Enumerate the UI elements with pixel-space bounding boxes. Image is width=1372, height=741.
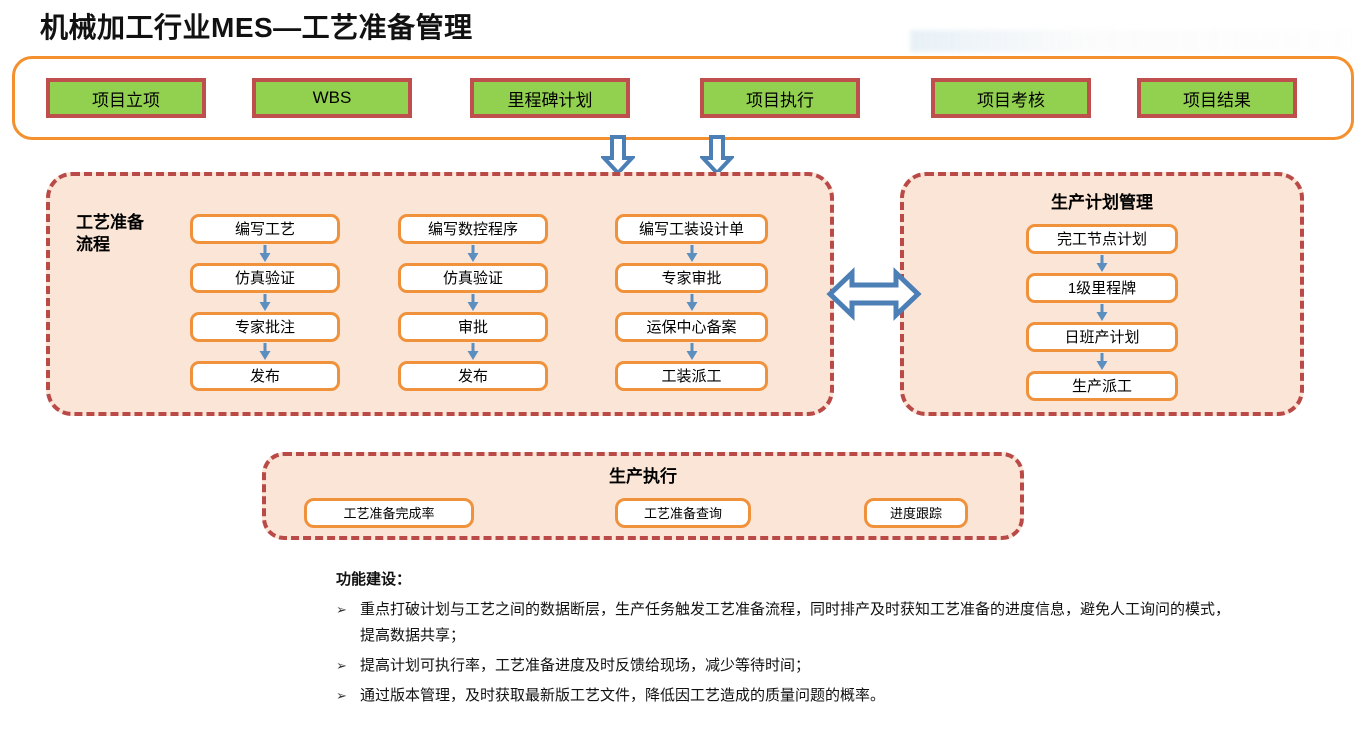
- process-arrow-3-3: [685, 343, 699, 360]
- phase-button-label: 里程碑计划: [508, 86, 593, 111]
- plan-step-label: 日班产计划: [1064, 329, 1139, 346]
- phase-button-label: 项目立项: [92, 86, 160, 111]
- phase-button-label: 项目结果: [1183, 86, 1251, 111]
- process-panel-label-line-2: 流程: [76, 234, 186, 256]
- process-step-label: 编写数控程序: [428, 221, 518, 238]
- execution-item-label: 进度跟踪: [890, 505, 942, 522]
- process-step-2-3[interactable]: 审批: [398, 312, 548, 342]
- process-arrow-1-3: [258, 343, 272, 360]
- bidirectional-link-arrow-icon: [826, 266, 922, 322]
- feature-item-text: 通过版本管理，及时获取最新版工艺文件，降低因工艺造成的质量问题的概率。: [360, 683, 1236, 709]
- process-step-label: 专家批注: [235, 319, 295, 336]
- process-step-2-4[interactable]: 发布: [398, 361, 548, 391]
- process-step-3-2[interactable]: 专家审批: [615, 263, 768, 293]
- feature-item-2: ➢提高计划可执行率，工艺准备进度及时反馈给现场，减少等待时间；: [336, 653, 1236, 679]
- plan-step-label: 完工节点计划: [1057, 231, 1147, 248]
- phase-button-label: WBS: [313, 88, 352, 108]
- phase-button-1[interactable]: 项目立项: [46, 78, 206, 118]
- plan-step-label: 生产派工: [1072, 378, 1132, 395]
- phase-button-3[interactable]: 里程碑计划: [470, 78, 630, 118]
- execution-item-label: 工艺准备完成率: [343, 505, 434, 522]
- down-arrow-icon-1: [601, 134, 635, 176]
- plan-arrow-1: [1095, 255, 1109, 272]
- process-step-2-2[interactable]: 仿真验证: [398, 263, 548, 293]
- process-step-label: 仿真验证: [443, 270, 503, 287]
- exec-panel-heading: 生产执行: [262, 462, 1024, 487]
- feature-item-1: ➢重点打破计划与工艺之间的数据断层，生产任务触发工艺准备流程，同时排产及时获知工…: [336, 597, 1236, 649]
- phase-button-label: 项目执行: [746, 86, 814, 111]
- execution-item-2[interactable]: 工艺准备查询: [615, 498, 751, 528]
- execution-item-1[interactable]: 工艺准备完成率: [304, 498, 474, 528]
- plan-arrow-2: [1095, 304, 1109, 321]
- down-arrow-icon-2: [700, 134, 734, 176]
- plan-step-2[interactable]: 1级里程牌: [1026, 273, 1178, 303]
- process-step-label: 发布: [458, 368, 488, 385]
- process-step-2-1[interactable]: 编写数控程序: [398, 214, 548, 244]
- features-title: 功能建设：: [336, 568, 1236, 589]
- process-arrow-2-1: [466, 245, 480, 262]
- plan-step-4[interactable]: 生产派工: [1026, 371, 1178, 401]
- plan-step-3[interactable]: 日班产计划: [1026, 322, 1178, 352]
- process-step-3-1[interactable]: 编写工装设计单: [615, 214, 768, 244]
- arrow-bullet-icon: ➢: [336, 653, 360, 679]
- process-arrow-3-2: [685, 294, 699, 311]
- plan-panel-heading: 生产计划管理: [900, 188, 1304, 213]
- process-arrow-3-1: [685, 245, 699, 262]
- process-step-label: 专家审批: [661, 270, 721, 287]
- execution-item-3[interactable]: 进度跟踪: [864, 498, 968, 528]
- process-step-3-3[interactable]: 运保中心备案: [615, 312, 768, 342]
- process-step-label: 运保中心备案: [646, 319, 736, 336]
- process-step-1-1[interactable]: 编写工艺: [190, 214, 340, 244]
- process-step-1-2[interactable]: 仿真验证: [190, 263, 340, 293]
- feature-item-text: 重点打破计划与工艺之间的数据断层，生产任务触发工艺准备流程，同时排产及时获知工艺…: [360, 597, 1236, 649]
- arrow-bullet-icon: ➢: [336, 683, 360, 709]
- feature-construction-block: 功能建设： ➢重点打破计划与工艺之间的数据断层，生产任务触发工艺准备流程，同时排…: [336, 568, 1236, 713]
- background-watermark: [910, 30, 1350, 52]
- features-list: ➢重点打破计划与工艺之间的数据断层，生产任务触发工艺准备流程，同时排产及时获知工…: [336, 597, 1236, 709]
- process-step-3-4[interactable]: 工装派工: [615, 361, 768, 391]
- phase-button-4[interactable]: 项目执行: [700, 78, 860, 118]
- phase-button-5[interactable]: 项目考核: [931, 78, 1091, 118]
- process-step-label: 发布: [250, 368, 280, 385]
- plan-step-label: 1级里程牌: [1068, 280, 1136, 297]
- phase-button-label: 项目考核: [977, 86, 1045, 111]
- process-panel-label: 工艺准备流程: [76, 212, 186, 256]
- plan-step-1[interactable]: 完工节点计划: [1026, 224, 1178, 254]
- process-step-label: 审批: [458, 319, 488, 336]
- process-panel-label-line-1: 工艺准备: [76, 212, 186, 234]
- process-arrow-1-1: [258, 245, 272, 262]
- arrow-bullet-icon: ➢: [336, 597, 360, 623]
- process-step-1-4[interactable]: 发布: [190, 361, 340, 391]
- execution-item-label: 工艺准备查询: [644, 505, 722, 522]
- process-step-label: 工装派工: [661, 368, 721, 385]
- feature-item-text: 提高计划可执行率，工艺准备进度及时反馈给现场，减少等待时间；: [360, 653, 1236, 679]
- process-step-label: 编写工艺: [235, 221, 295, 238]
- process-arrow-2-2: [466, 294, 480, 311]
- process-arrow-1-2: [258, 294, 272, 311]
- phase-button-6[interactable]: 项目结果: [1137, 78, 1297, 118]
- process-arrow-2-3: [466, 343, 480, 360]
- process-step-1-3[interactable]: 专家批注: [190, 312, 340, 342]
- process-step-label: 仿真验证: [235, 270, 295, 287]
- process-step-label: 编写工装设计单: [639, 221, 744, 238]
- plan-arrow-3: [1095, 353, 1109, 370]
- page-title: 机械加工行业MES—工艺准备管理: [40, 6, 473, 46]
- phase-button-2[interactable]: WBS: [252, 78, 412, 118]
- feature-item-3: ➢通过版本管理，及时获取最新版工艺文件，降低因工艺造成的质量问题的概率。: [336, 683, 1236, 709]
